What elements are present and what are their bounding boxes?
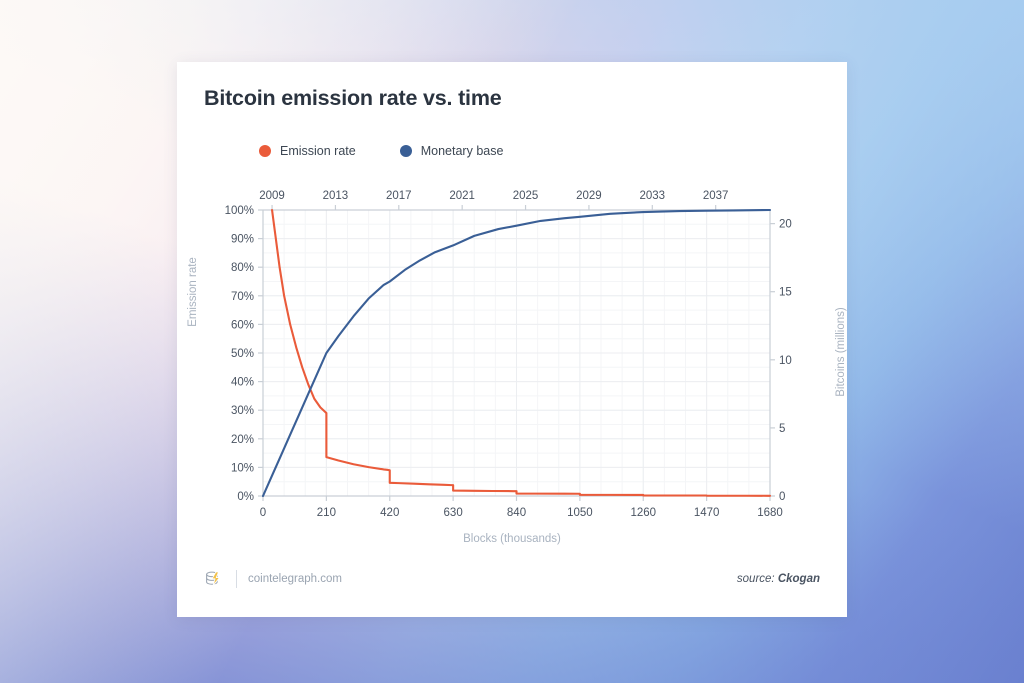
card-footer: cointelegraph.com source: Ckogan xyxy=(204,567,820,591)
y-axis-tick-label: 40% xyxy=(231,377,254,389)
brand-name: cointelegraph.com xyxy=(248,573,342,585)
y-axis-tick-label: 20% xyxy=(231,434,254,446)
y-axis-tick-label: 70% xyxy=(231,291,254,303)
top-axis-year-label: 2025 xyxy=(513,190,539,202)
y2-axis-title: Bitcoins (millions) xyxy=(835,282,847,422)
y2-axis-tick-label: 5 xyxy=(779,423,785,435)
x-axis-tick-label: 1050 xyxy=(567,507,593,519)
x-axis-title: Blocks (thousands) xyxy=(177,533,847,545)
y-axis-tick-label: 30% xyxy=(231,405,254,417)
x-axis-tick-label: 630 xyxy=(444,507,463,519)
y-axis-tick-label: 90% xyxy=(231,234,254,246)
y2-axis-tick-label: 10 xyxy=(779,355,792,367)
x-axis-tick-label: 210 xyxy=(317,507,336,519)
source-author: Ckogan xyxy=(778,573,820,585)
footer-divider xyxy=(236,570,237,588)
y-axis-title: Emission rate xyxy=(187,232,199,352)
top-axis-year-label: 2029 xyxy=(576,190,602,202)
top-axis-year-label: 2013 xyxy=(323,190,349,202)
top-axis-year-label: 2037 xyxy=(703,190,729,202)
y2-axis-tick-label: 20 xyxy=(779,219,792,231)
plot-area: 0%10%20%30%40%50%60%70%80%90%100%0510152… xyxy=(177,62,847,617)
y-axis-tick-label: 60% xyxy=(231,319,254,331)
source-prefix: source: xyxy=(737,573,775,585)
source-credit: source: Ckogan xyxy=(737,573,820,585)
x-axis-tick-label: 1470 xyxy=(694,507,720,519)
y2-axis-tick-label: 15 xyxy=(779,287,792,299)
y-axis-tick-label: 0% xyxy=(237,491,254,503)
top-axis-year-label: 2009 xyxy=(259,190,285,202)
brand-block: cointelegraph.com xyxy=(204,569,342,590)
y-axis-tick-label: 80% xyxy=(231,262,254,274)
y-axis-tick-label: 100% xyxy=(225,205,254,217)
x-axis-tick-label: 1680 xyxy=(757,507,783,519)
x-axis-tick-label: 420 xyxy=(380,507,399,519)
top-axis-year-label: 2033 xyxy=(640,190,666,202)
x-axis-tick-label: 0 xyxy=(260,507,266,519)
top-axis-year-label: 2017 xyxy=(386,190,412,202)
y2-axis-tick-label: 0 xyxy=(779,491,785,503)
top-axis-year-label: 2021 xyxy=(449,190,475,202)
x-axis-tick-label: 840 xyxy=(507,507,526,519)
x-axis-tick-label: 1260 xyxy=(630,507,656,519)
chart-card: Bitcoin emission rate vs. time Emission … xyxy=(177,62,847,617)
coin-stack-bolt-icon xyxy=(204,569,225,590)
y-axis-tick-label: 10% xyxy=(231,462,254,474)
y-axis-tick-label: 50% xyxy=(231,348,254,360)
